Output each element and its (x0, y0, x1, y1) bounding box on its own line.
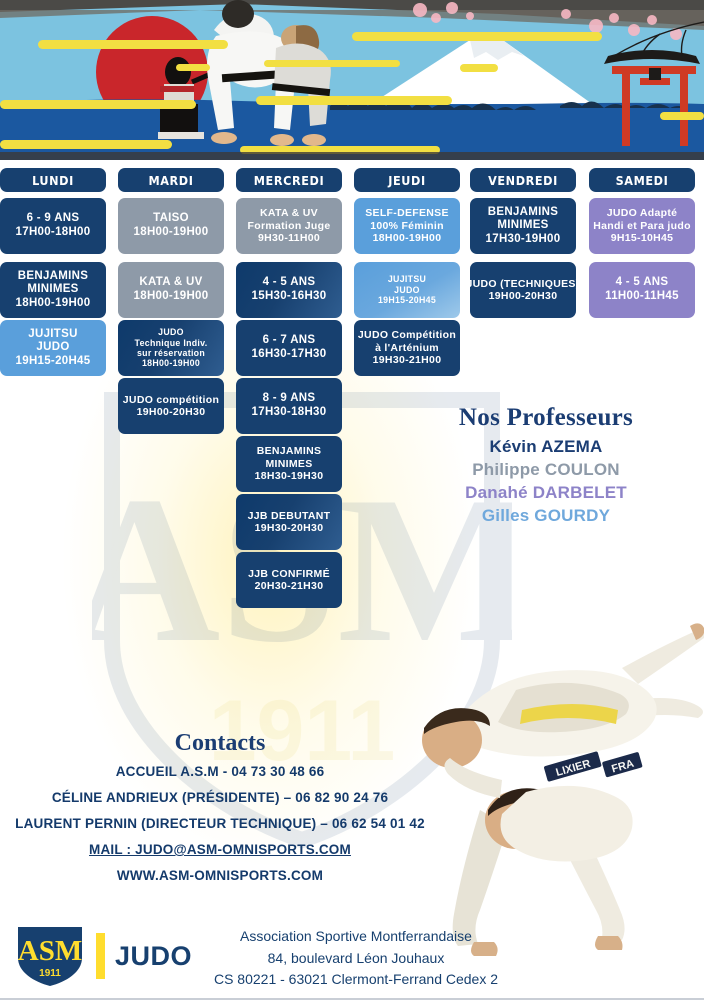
professors-section: Nos Professeurs Kévin AZEMAPhilippe COUL… (396, 404, 696, 528)
slot-line: 4 - 5 ANS (263, 276, 316, 290)
slot-line: 19H15-20H45 (378, 295, 436, 305)
professor-name: Philippe COULON (396, 459, 696, 482)
slot-line: JUDO compétition (123, 394, 219, 406)
contact-line: CÉLINE ANDRIEUX (PRÉSIDENTE) – 06 82 90 … (0, 790, 440, 805)
slot-line: 6 - 9 ANS (27, 212, 80, 226)
contacts-section: Contacts ACCUEIL A.S.M - 04 73 30 48 66C… (0, 730, 440, 894)
slot-line: 8 - 9 ANS (263, 392, 316, 406)
day-header-mercredi: MERCREDI (236, 168, 342, 192)
day-column-jeudi: JEUDISELF-DEFENSE100% Féminin18H00-19H00… (354, 168, 460, 192)
schedule-slot[interactable]: 6 - 9 ANS17H00-18H00 (0, 198, 106, 254)
poster-root: ASM 1911 (0, 0, 704, 1000)
footer: ASM 1911 JUDO Association Sportive Montf… (0, 912, 704, 1000)
day-column-lundi: LUNDI6 - 9 ANS17H00-18H00BENJAMINSMINIME… (0, 168, 106, 192)
logo-monogram: ASM (18, 935, 82, 967)
slot-line: Handi et Para judo (593, 220, 691, 232)
slot-line: JJB DEBUTANT (248, 510, 331, 522)
slot-line: 18H00-19H00 (134, 226, 209, 240)
contact-line: WWW.ASM-OMNISPORTS.COM (0, 868, 440, 883)
contact-line: LAURENT PERNIN (DIRECTEUR TECHNIQUE) – 0… (0, 816, 440, 831)
slot-line: MINIMES (265, 458, 312, 470)
day-column-mardi: MARDITAISO18H00-19H00KATA & UV18H00-19H0… (118, 168, 224, 192)
slot-line: JUDO (TECHNIQUES) (470, 278, 576, 290)
schedule-slot[interactable]: 4 - 5 ANS11H00-11H45 (589, 262, 695, 318)
slot-line: BENJAMINS (257, 445, 322, 457)
slot-line: 17H00-18H00 (16, 226, 91, 240)
schedule-slot[interactable]: JUDO (TECHNIQUES)19H00-20H30 (470, 262, 576, 318)
slot-line: KATA & UV (260, 207, 318, 219)
slot-line: JUDO Adapté (607, 207, 678, 219)
professor-name: Danahé DARBELET (396, 482, 696, 505)
slot-line: JUDO (158, 327, 184, 337)
slot-line: Formation Juge (248, 220, 331, 232)
asm-shield-logo-icon: ASM 1911 (14, 924, 86, 988)
schedule-slot[interactable]: BENJAMINSMINIMES18H00-19H00 (0, 262, 106, 318)
day-header-lundi: LUNDI (0, 168, 106, 192)
schedule-slot[interactable]: JJB DEBUTANT19H30-20H30 (236, 494, 342, 550)
slot-line: 9H30-11H00 (258, 232, 320, 244)
header-banner-image (0, 0, 704, 160)
slot-line: sur réservation (137, 348, 205, 358)
slot-line: 20H30-21H30 (255, 580, 324, 592)
slot-line: 15H30-16H30 (252, 290, 327, 304)
day-column-mercredi: MERCREDIKATA & UVFormation Juge9H30-11H0… (236, 168, 342, 192)
day-header-samedi: SAMEDI (589, 168, 695, 192)
schedule-slot[interactable]: JUDO Compétitionà l'Arténium19H30-21H00 (354, 320, 460, 376)
slot-line: JUDO (394, 285, 420, 295)
schedule-slot[interactable]: KATA & UV18H00-19H00 (118, 262, 224, 318)
professor-name: Gilles GOURDY (396, 505, 696, 528)
schedule-slot[interactable]: JUDO AdaptéHandi et Para judo9H15-10H45 (589, 198, 695, 254)
slot-line: MINIMES (497, 219, 548, 233)
footer-logo-group: ASM 1911 JUDO (14, 924, 192, 988)
slot-line: 19H30-21H00 (373, 354, 442, 366)
schedule-slot[interactable]: JJB CONFIRMÉ20H30-21H30 (236, 552, 342, 608)
professor-name: Kévin AZEMA (396, 436, 696, 459)
contact-line: ACCUEIL A.S.M - 04 73 30 48 66 (0, 764, 440, 779)
slot-line: 18H30-19H30 (255, 470, 324, 482)
slot-line: 19H30-20H30 (255, 522, 324, 534)
address-line: Association Sportive Montferrandaise (176, 926, 536, 948)
slot-line: JUJITSU (28, 328, 77, 342)
slot-line: 6 - 7 ANS (263, 334, 316, 348)
contacts-list: ACCUEIL A.S.M - 04 73 30 48 66CÉLINE AND… (0, 764, 440, 883)
slot-line: JJB CONFIRMÉ (248, 568, 330, 580)
schedule-slot[interactable]: KATA & UVFormation Juge9H30-11H00 (236, 198, 342, 254)
slot-line: 9H15-10H45 (611, 232, 674, 244)
slot-line: KATA & UV (139, 276, 202, 290)
slot-line: Technique Indiv. (135, 338, 208, 348)
schedule-slot[interactable]: JUDO compétition19H00-20H30 (118, 378, 224, 434)
schedule-slot[interactable]: 6 - 7 ANS16H30-17H30 (236, 320, 342, 376)
slot-line: 11H00-11H45 (605, 290, 679, 304)
slot-line: 17H30-18H30 (252, 406, 327, 420)
slot-line: 19H15-20H45 (16, 355, 91, 369)
address-line: CS 80221 - 63021 Clermont-Ferrand Cedex … (176, 969, 536, 991)
schedule-slot[interactable]: BENJAMINSMINIMES18H30-19H30 (236, 436, 342, 492)
professors-title: Nos Professeurs (396, 404, 696, 432)
day-header-jeudi: JEUDI (354, 168, 460, 192)
schedule-slot[interactable]: JUDOTechnique Indiv.sur réservation18H00… (118, 320, 224, 376)
slot-line: JUJITSU (388, 274, 426, 284)
day-header-mardi: MARDI (118, 168, 224, 192)
day-column-vendredi: VENDREDIBENJAMINSMINIMES17H30-19H00JUDO … (470, 168, 576, 192)
address-line: 84, boulevard Léon Jouhaux (176, 948, 536, 970)
slot-line: SELF-DEFENSE (365, 207, 449, 219)
slot-line: 18H00-19H00 (16, 297, 91, 311)
slot-line: 19H00-20H30 (137, 406, 206, 418)
slot-line: BENJAMINS (18, 270, 88, 284)
slot-line: 18H00-19H00 (134, 290, 209, 304)
schedule-slot[interactable]: JUJITSUJUDO19H15-20H45 (354, 262, 460, 318)
schedule-slot[interactable]: 4 - 5 ANS15H30-16H30 (236, 262, 342, 318)
professors-list: Kévin AZEMAPhilippe COULONDanahé DARBELE… (396, 436, 696, 528)
schedule-slot[interactable]: JUJITSUJUDO19H15-20H45 (0, 320, 106, 376)
schedule-slot[interactable]: TAISO18H00-19H00 (118, 198, 224, 254)
day-column-samedi: SAMEDIJUDO AdaptéHandi et Para judo9H15-… (589, 168, 695, 192)
contacts-title: Contacts (0, 730, 440, 757)
schedule-slot[interactable]: SELF-DEFENSE100% Féminin18H00-19H00 (354, 198, 460, 254)
slot-line: 18H00-19H00 (373, 232, 442, 244)
logo-divider-bar (96, 933, 105, 979)
logo-year: 1911 (39, 968, 61, 979)
slot-line: TAISO (153, 212, 189, 226)
slot-line: JUDO (36, 341, 69, 355)
day-header-vendredi: VENDREDI (470, 168, 576, 192)
slot-line: 16H30-17H30 (252, 348, 327, 362)
banner-artwork (0, 0, 704, 160)
schedule-slot[interactable]: 8 - 9 ANS17H30-18H30 (236, 378, 342, 434)
slot-line: MINIMES (27, 283, 78, 297)
slot-line: 17H30-19H00 (486, 233, 561, 247)
slot-line: à l'Arténium (375, 342, 439, 354)
contact-line[interactable]: MAIL : JUDO@ASM-OMNISPORTS.COM (0, 842, 440, 857)
footer-address: Association Sportive Montferrandaise84, … (176, 926, 536, 991)
slot-line: JUDO Compétition (358, 329, 456, 341)
slot-line: BENJAMINS (488, 206, 558, 220)
schedule-slot[interactable]: BENJAMINSMINIMES17H30-19H00 (470, 198, 576, 254)
slot-line: 18H00-19H00 (142, 358, 200, 368)
slot-line: 19H00-20H30 (489, 290, 558, 302)
slot-line: 100% Féminin (370, 220, 444, 232)
slot-line: 4 - 5 ANS (616, 276, 669, 290)
